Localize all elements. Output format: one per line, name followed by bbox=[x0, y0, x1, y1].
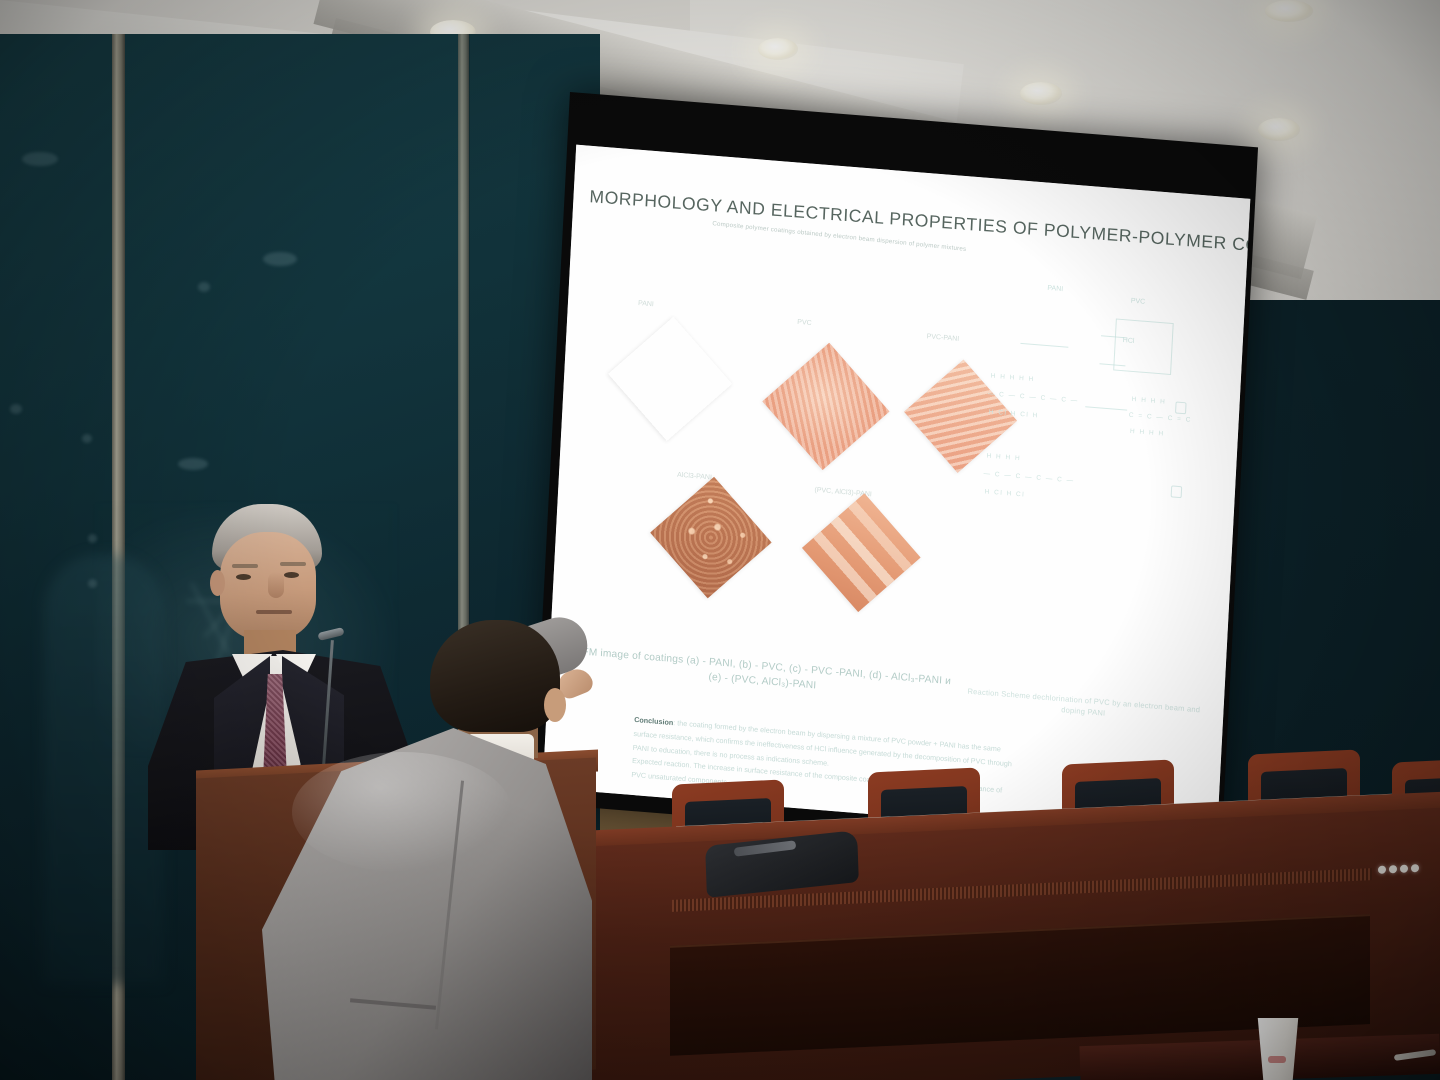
glass-light-reflection bbox=[88, 579, 97, 588]
afm-label-a: PANI bbox=[638, 300, 654, 308]
desk-control-panel[interactable] bbox=[1375, 861, 1421, 876]
afm-image-a bbox=[608, 317, 732, 441]
attendee-hair bbox=[430, 620, 560, 732]
projection-screen-frame: MORPHOLOGY AND ELECTRICAL PROPERTIES OF … bbox=[533, 92, 1258, 858]
cup-logo-icon bbox=[1268, 1056, 1286, 1063]
caption-afm: AFM image of coatings (a) - PANI, (b) - … bbox=[573, 644, 954, 705]
conclusion-label: Conclusion bbox=[634, 715, 674, 727]
downlight-icon bbox=[758, 38, 798, 60]
afm-label-b: PVC bbox=[797, 319, 812, 327]
afm-label-c: PVC-PANI bbox=[926, 333, 959, 343]
scheme-label-pvc: PVC bbox=[1131, 298, 1146, 306]
glass-light-reflection bbox=[198, 282, 210, 292]
indicator-dot-icon bbox=[1378, 865, 1386, 873]
scheme-box bbox=[1113, 318, 1174, 375]
scheme-product-bot: H H H H bbox=[1130, 428, 1165, 438]
presentation-slide: MORPHOLOGY AND ELECTRICAL PROPERTIES OF … bbox=[543, 145, 1251, 842]
glass-light-reflection bbox=[263, 252, 297, 266]
downlight-icon bbox=[1020, 82, 1062, 105]
scheme-chain-low-top: H H H H bbox=[986, 452, 1021, 462]
caption-reaction-scheme: Reaction Scheme dechlorination of PVC by… bbox=[955, 685, 1211, 728]
scheme-ring bbox=[1175, 401, 1187, 414]
scheme-arrow bbox=[1085, 406, 1127, 410]
scheme-label-pani: PANI bbox=[1047, 285, 1063, 293]
scheme-chain-bot: H Cl H Cl H bbox=[989, 409, 1039, 420]
speaker-nose bbox=[268, 572, 284, 598]
glass-light-reflection bbox=[82, 434, 92, 443]
glass-light-reflection bbox=[178, 458, 208, 470]
scheme-chain-low-mid: — C — C — C — C — bbox=[983, 470, 1074, 484]
glass-light-reflection bbox=[22, 152, 58, 166]
attendee-ear bbox=[544, 688, 566, 722]
speaker-eyebrow bbox=[232, 564, 258, 568]
speaker-ear bbox=[210, 570, 225, 596]
person-pointing-at-screen bbox=[262, 612, 622, 1080]
afm-label-d: AlCl3-PANI bbox=[677, 472, 712, 482]
indicator-dot-icon bbox=[1400, 864, 1408, 872]
projection-screen: MORPHOLOGY AND ELECTRICAL PROPERTIES OF … bbox=[543, 145, 1251, 842]
attendee-shoulder-highlight bbox=[292, 752, 512, 872]
indicator-dot-icon bbox=[1389, 865, 1397, 873]
speaker-eyebrow bbox=[280, 562, 306, 566]
scheme-line bbox=[1020, 343, 1068, 348]
indicator-dot-icon bbox=[1411, 864, 1419, 872]
afm-image-d bbox=[650, 477, 771, 598]
speaker-eye bbox=[236, 574, 251, 580]
glass-light-reflection bbox=[88, 534, 97, 543]
scheme-product-top: H H H H bbox=[1131, 396, 1166, 406]
conference-room-photo: MORPHOLOGY AND ELECTRICAL PROPERTIES OF … bbox=[0, 0, 1440, 1080]
scheme-chain-low-bot: H Cl H Cl bbox=[984, 488, 1025, 498]
glass-light-reflection bbox=[10, 404, 22, 414]
afm-image-e bbox=[802, 493, 920, 612]
scheme-chain-top: H H H H H bbox=[991, 373, 1035, 384]
afm-image-b bbox=[762, 343, 889, 470]
scheme-chain-mid: — C — C — C — C — bbox=[988, 390, 1079, 404]
downlight-icon bbox=[1265, 0, 1313, 22]
downlight-icon bbox=[1258, 118, 1300, 141]
scheme-ring bbox=[1171, 485, 1183, 498]
reaction-scheme-diagram: PANI PVC HCl H H H H H — C — C — C — C —… bbox=[965, 274, 1241, 694]
speaker-eye bbox=[284, 572, 299, 578]
